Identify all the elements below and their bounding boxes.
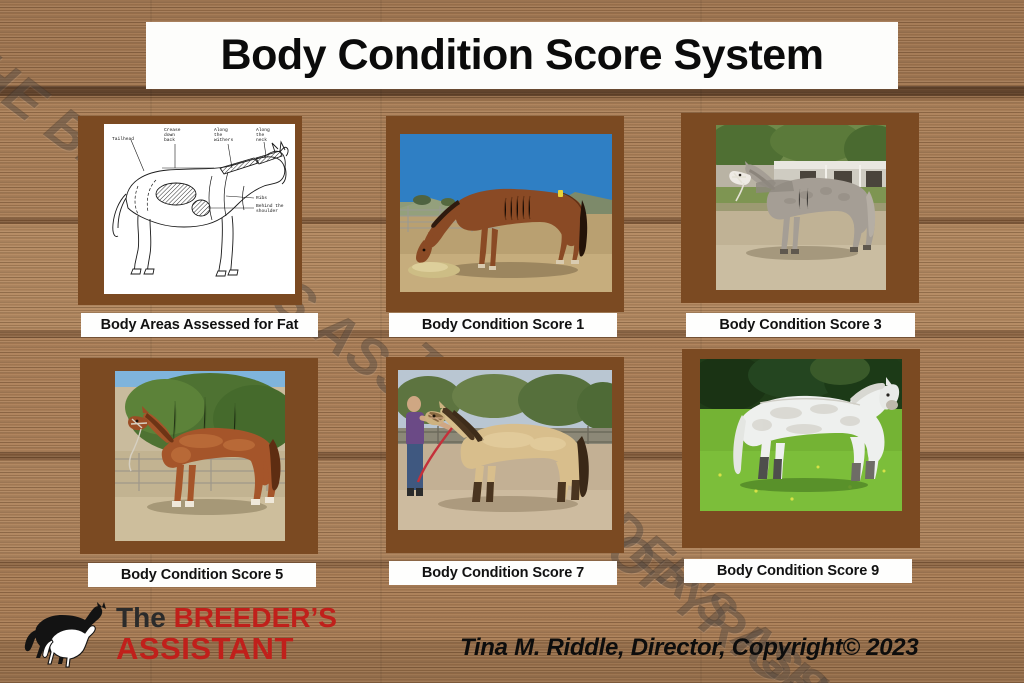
photo-score-5 — [115, 371, 285, 541]
diagram-label-ribs: Ribs — [256, 195, 267, 201]
diagram-label-withers-3: withers — [214, 137, 234, 143]
card-score-3 — [681, 113, 919, 303]
caption-score-9: Body Condition Score 9 — [684, 559, 912, 583]
photo-score-7 — [398, 370, 612, 530]
card-score-1 — [386, 116, 624, 312]
card-score-5 — [80, 358, 318, 554]
caption-score-5: Body Condition Score 5 — [88, 563, 316, 587]
horse-and-foal-logo-icon — [22, 598, 108, 670]
diagram-label-tailhead: Tailhead — [112, 136, 134, 142]
logo-assistant: ASSISTANT — [116, 633, 337, 664]
photo-score-9 — [700, 359, 902, 511]
diagram-label-shoulder-2: shoulder — [256, 208, 278, 214]
card-score-7 — [386, 357, 624, 553]
card-score-9 — [682, 349, 920, 548]
caption-score-1: Body Condition Score 1 — [389, 313, 617, 337]
copyright-text: Tina M. Riddle, Director, Copyright© 202… — [460, 634, 918, 662]
caption-body-areas: Body Areas Assessed for Fat — [81, 313, 318, 337]
logo-the: The — [116, 602, 174, 633]
diagram-label-crease-3: back — [164, 137, 175, 143]
caption-score-7: Body Condition Score 7 — [389, 561, 617, 585]
photo-score-1 — [400, 134, 612, 292]
page-title: Body Condition Score System — [221, 31, 824, 80]
card-body-areas: Tailhead Crease down back Along the with… — [78, 116, 302, 305]
caption-score-3: Body Condition Score 3 — [686, 313, 915, 337]
logo-wordmark: The BREEDER’S ASSISTANT — [116, 604, 337, 664]
photo-score-3 — [716, 125, 886, 290]
logo-breeders: BREEDER’S — [174, 602, 337, 633]
diagram-label-neck-3: neck — [256, 137, 267, 143]
body-areas-diagram: Tailhead Crease down back Along the with… — [104, 124, 295, 294]
breeders-assistant-logo: The BREEDER’S ASSISTANT — [22, 596, 352, 672]
title-banner: Body Condition Score System — [146, 22, 898, 89]
